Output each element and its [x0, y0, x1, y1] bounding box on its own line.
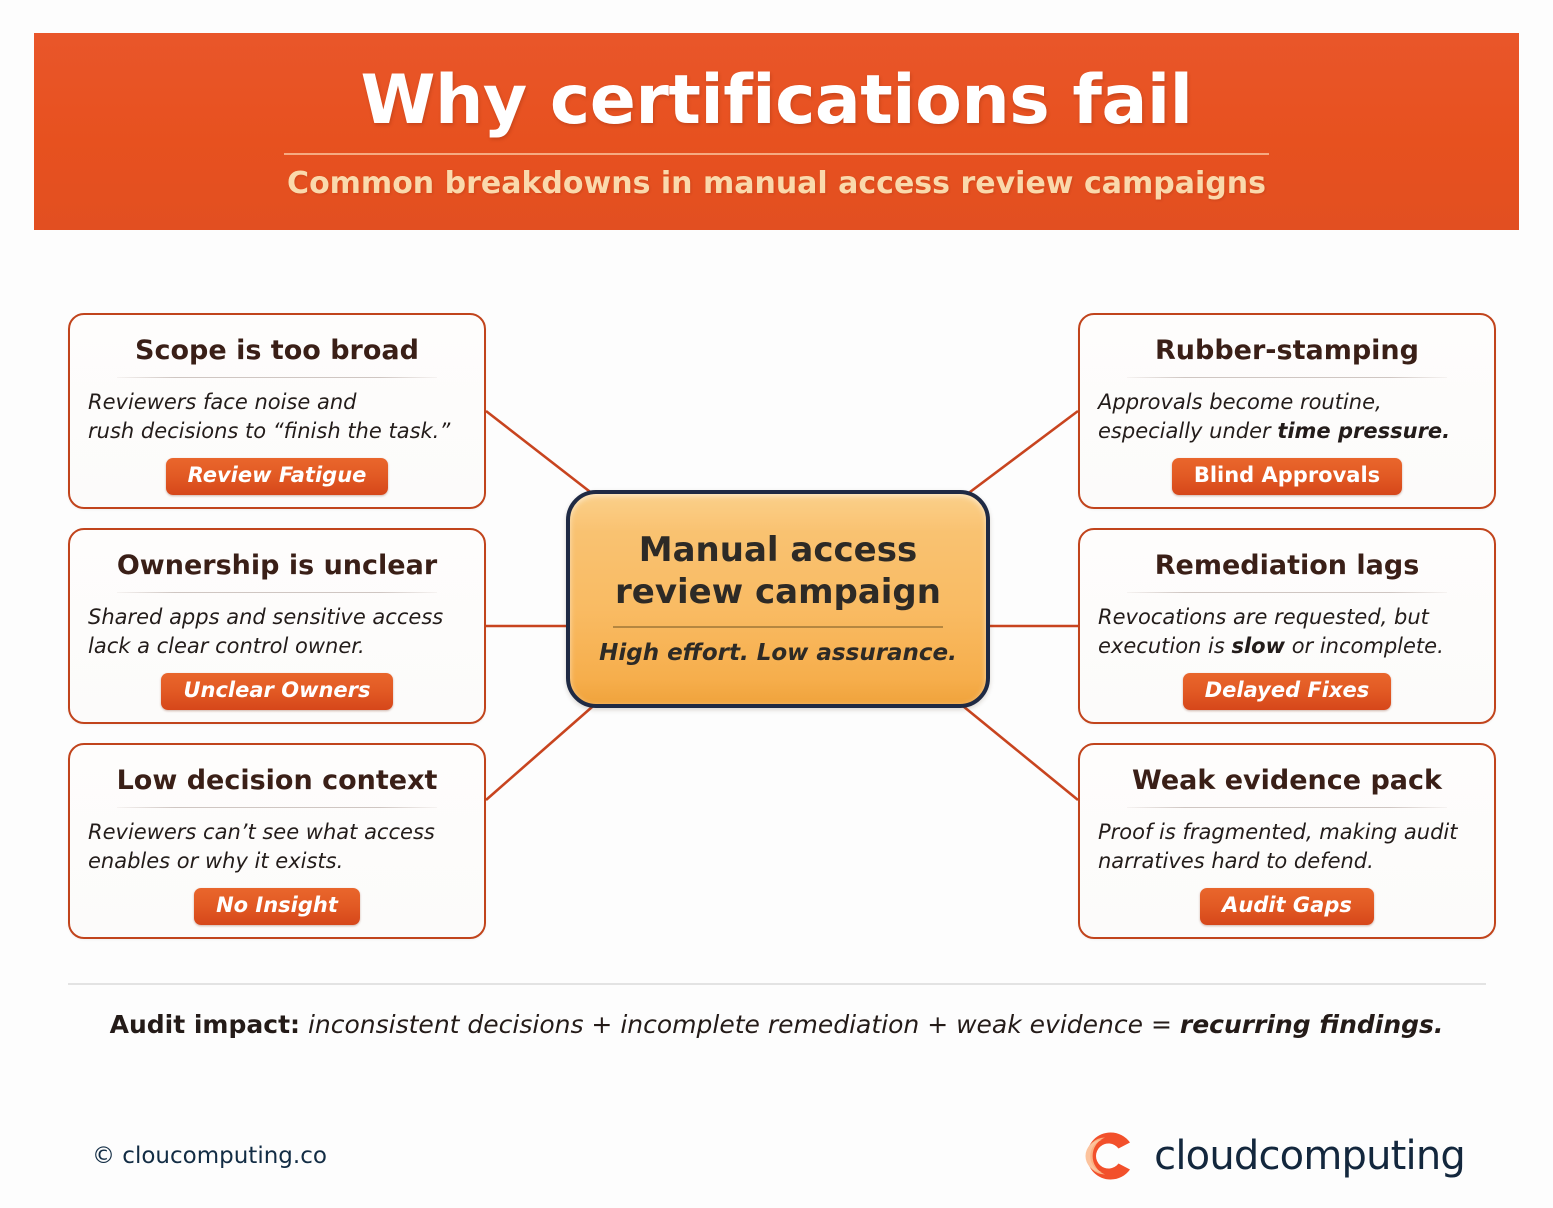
- card-body-text: or incomplete.: [1285, 634, 1444, 658]
- card-body-text: especially under: [1098, 419, 1277, 443]
- cloudcomputing-c-mark-icon: [1081, 1130, 1137, 1182]
- card-ownership-is-unclear[interactable]: Ownership is unclear Shared apps and sen…: [68, 528, 486, 724]
- card-weak-evidence-pack[interactable]: Weak evidence pack Proof is fragmented, …: [1078, 743, 1496, 939]
- card-body-line: narratives hard to defend.: [1098, 847, 1476, 876]
- card-body: Reviewers face noise and rush decisions …: [86, 388, 468, 446]
- brand-logo: cloudcomputing: [1081, 1128, 1465, 1184]
- card-divider: [117, 377, 437, 379]
- card-title: Scope is too broad: [135, 336, 419, 366]
- card-tag-pill[interactable]: No Insight: [194, 888, 360, 925]
- card-tag-pill[interactable]: Review Fatigue: [166, 458, 389, 495]
- card-body-line: especially under time pressure.: [1098, 417, 1476, 446]
- card-body-line: Reviewers can’t see what access: [88, 818, 466, 847]
- card-body-line: Approvals become routine,: [1098, 388, 1476, 417]
- card-divider: [117, 807, 437, 809]
- header-divider: [284, 153, 1269, 155]
- card-body-line: rush decisions to “finish the task.”: [88, 417, 466, 446]
- card-low-decision-context[interactable]: Low decision context Reviewers can’t see…: [68, 743, 486, 939]
- card-title: Weak evidence pack: [1132, 766, 1442, 796]
- card-body-line: Reviewers face noise and: [88, 388, 466, 417]
- card-body-line: lack a clear control owner.: [88, 632, 466, 661]
- hub-subtitle: High effort. Low assurance.: [599, 640, 957, 666]
- card-body-line: execution is slow or incomplete.: [1098, 632, 1476, 661]
- card-tag-pill[interactable]: Delayed Fixes: [1183, 673, 1392, 710]
- card-body: Approvals become routine, especially und…: [1096, 388, 1478, 446]
- audit-impact-result: recurring findings.: [1180, 1010, 1444, 1039]
- page-subtitle: Common breakdowns in manual access revie…: [287, 169, 1266, 199]
- card-body-text: execution is: [1098, 634, 1231, 658]
- brand-wordmark: cloudcomputing: [1154, 1133, 1465, 1179]
- header-banner: Why certifications fail Common breakdown…: [34, 33, 1519, 230]
- card-remediation-lags[interactable]: Remediation lags Revocations are request…: [1078, 528, 1496, 724]
- card-title: Remediation lags: [1155, 551, 1420, 581]
- card-title: Rubber-stamping: [1155, 336, 1419, 366]
- card-divider: [1127, 377, 1447, 379]
- card-rubber-stamping[interactable]: Rubber-stamping Approvals become routine…: [1078, 313, 1496, 509]
- hub-title-line: Manual access: [615, 530, 941, 571]
- hub-title: Manual access review campaign: [615, 530, 941, 613]
- card-body-line: enables or why it exists.: [88, 847, 466, 876]
- page-title: Why certifications fail: [361, 67, 1193, 135]
- card-divider: [117, 592, 437, 594]
- hub-title-line: review campaign: [615, 572, 941, 613]
- card-body-line: Shared apps and sensitive access: [88, 603, 466, 632]
- card-body: Reviewers can’t see what access enables …: [86, 818, 468, 876]
- card-tag-pill[interactable]: Audit Gaps: [1200, 888, 1374, 925]
- card-tag-pill[interactable]: Blind Approvals: [1172, 458, 1402, 495]
- hub-divider: [613, 626, 943, 628]
- card-body: Revocations are requested, but execution…: [1096, 603, 1478, 661]
- card-body-emphasis: time pressure.: [1277, 419, 1450, 443]
- copyright-text: © cloucomputing.co: [92, 1143, 327, 1169]
- card-title: Low decision context: [117, 766, 438, 796]
- card-tag-pill[interactable]: Unclear Owners: [161, 673, 392, 710]
- card-body-line: Proof is fragmented, making audit: [1098, 818, 1476, 847]
- card-body-line: Revocations are requested, but: [1098, 603, 1476, 632]
- card-body: Shared apps and sensitive access lack a …: [86, 603, 468, 661]
- card-scope-is-too-broad[interactable]: Scope is too broad Reviewers face noise …: [68, 313, 486, 509]
- audit-impact-text: inconsistent decisions + incomplete reme…: [300, 1010, 1180, 1039]
- audit-impact-statement: Audit impact: inconsistent decisions + i…: [0, 1010, 1553, 1039]
- card-body-emphasis: slow: [1231, 634, 1285, 658]
- card-divider: [1127, 807, 1447, 809]
- card-body: Proof is fragmented, making audit narrat…: [1096, 818, 1478, 876]
- audit-impact-label: Audit impact:: [110, 1010, 300, 1039]
- central-hub-node[interactable]: Manual access review campaign High effor…: [566, 490, 990, 708]
- card-title: Ownership is unclear: [117, 551, 437, 581]
- footer-divider: [68, 983, 1486, 985]
- card-divider: [1127, 592, 1447, 594]
- card-body-text: narratives hard to defend.: [1098, 849, 1374, 873]
